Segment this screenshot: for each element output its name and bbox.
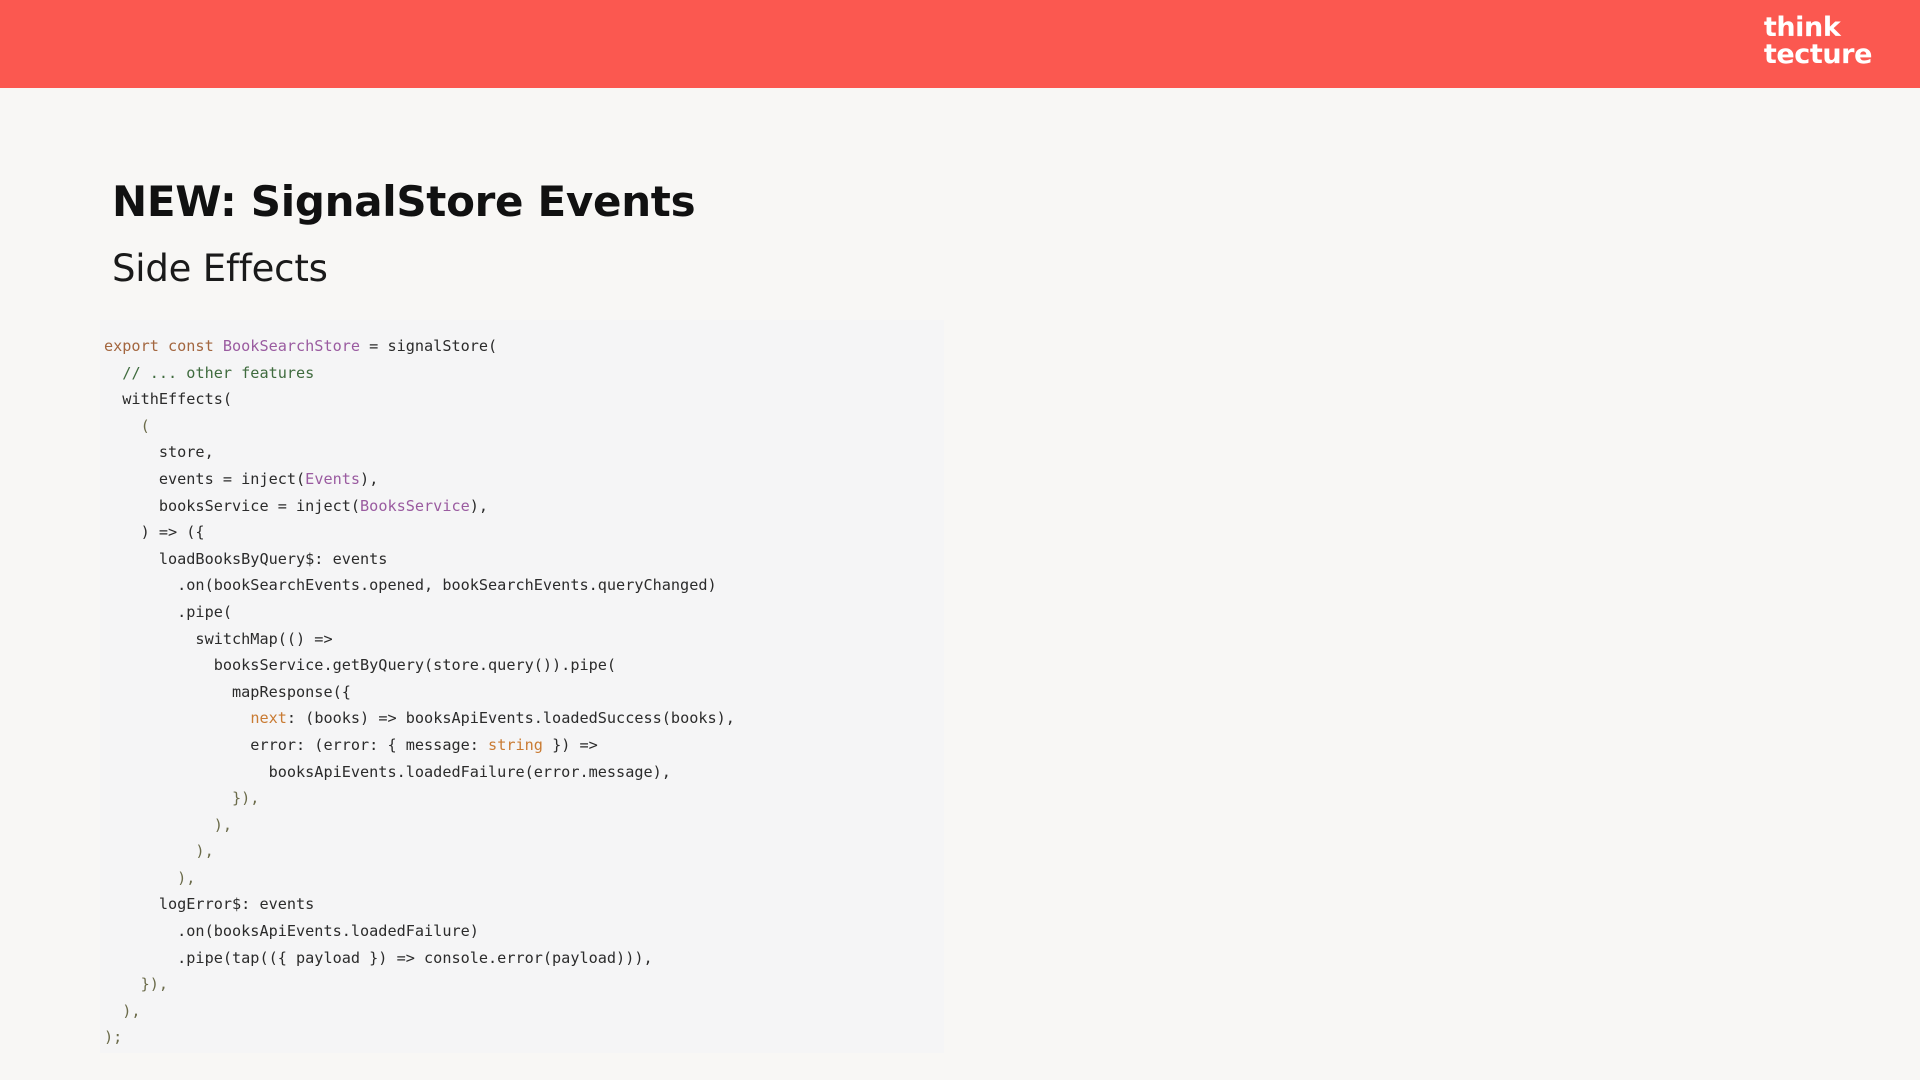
code-content: export const BookSearchStore = signalSto… [100, 333, 944, 1051]
code-token: ), [360, 470, 378, 488]
code-token: ), [104, 869, 195, 887]
code-token: withEffects( [104, 390, 232, 408]
code-token [104, 364, 122, 382]
page-subtitle: Side Effects [112, 247, 328, 291]
code-line: // ... other features [104, 360, 944, 387]
code-line: ), [104, 865, 944, 892]
code-token: booksApiEvents.loadedFailure(error.messa… [104, 763, 671, 781]
code-token: switchMap(() => [104, 630, 333, 648]
code-line: logError$: events [104, 891, 944, 918]
code-line: mapResponse({ [104, 679, 944, 706]
code-line: }), [104, 785, 944, 812]
code-line: withEffects( [104, 386, 944, 413]
code-line: booksService.getByQuery(store.query()).p… [104, 652, 944, 679]
code-token: .pipe(tap(({ payload }) => console.error… [104, 949, 653, 967]
code-token: loadBooksByQuery$: events [104, 550, 387, 568]
code-line: store, [104, 439, 944, 466]
code-token: ), [104, 1002, 141, 1020]
code-token: Events [305, 470, 360, 488]
code-line: ) => ({ [104, 519, 944, 546]
code-line: export const BookSearchStore = signalSto… [104, 333, 944, 360]
code-line: loadBooksByQuery$: events [104, 546, 944, 573]
code-line: error: (error: { message: string }) => [104, 732, 944, 759]
code-token: ); [104, 1028, 122, 1046]
brand-logo: think tecture [1764, 14, 1872, 68]
code-token: .pipe( [104, 603, 232, 621]
code-token: next [250, 709, 287, 727]
code-token: }) => [543, 736, 598, 754]
code-line: ), [104, 998, 944, 1025]
code-token: store, [104, 443, 214, 461]
code-token: ), [470, 497, 488, 515]
code-line: ), [104, 838, 944, 865]
code-token: booksService.getByQuery(store.query()).p… [104, 656, 616, 674]
code-line: next: (books) => booksApiEvents.loadedSu… [104, 705, 944, 732]
brand-logo-line-2: tecture [1764, 41, 1872, 68]
page-title: NEW: SignalStore Events [112, 178, 695, 226]
code-token: }), [104, 975, 168, 993]
code-token: }), [104, 789, 259, 807]
code-token: events = inject( [104, 470, 305, 488]
code-token: ), [104, 842, 214, 860]
code-token: export const [104, 337, 223, 355]
code-token: mapResponse({ [104, 683, 351, 701]
brand-logo-line-1: think [1764, 14, 1872, 41]
code-token: booksService = inject( [104, 497, 360, 515]
code-line: ); [104, 1024, 944, 1051]
code-line: .pipe(tap(({ payload }) => console.error… [104, 945, 944, 972]
code-token: ), [104, 816, 232, 834]
code-line: booksService = inject(BooksService), [104, 493, 944, 520]
code-token: logError$: events [104, 895, 314, 913]
code-token: .on(booksApiEvents.loadedFailure) [104, 922, 479, 940]
code-token: error: (error: { message: [104, 736, 488, 754]
code-line: events = inject(Events), [104, 466, 944, 493]
code-token: : (books) => booksApiEvents.loadedSucces… [287, 709, 735, 727]
code-line: ), [104, 812, 944, 839]
code-token: ) => ({ [104, 523, 205, 541]
code-token: BooksService [360, 497, 470, 515]
code-line: booksApiEvents.loadedFailure(error.messa… [104, 759, 944, 786]
code-token: string [488, 736, 543, 754]
code-line: switchMap(() => [104, 626, 944, 653]
header-bar: think tecture [0, 0, 1920, 88]
code-token: ( [104, 417, 150, 435]
code-line: .pipe( [104, 599, 944, 626]
code-line: .on(booksApiEvents.loadedFailure) [104, 918, 944, 945]
code-token [104, 709, 250, 727]
code-token: = signalStore( [360, 337, 497, 355]
code-token: BookSearchStore [223, 337, 360, 355]
code-block: export const BookSearchStore = signalSto… [100, 320, 944, 1053]
code-token: .on(bookSearchEvents.opened, bookSearchE… [104, 576, 717, 594]
code-line: ( [104, 413, 944, 440]
code-line: .on(bookSearchEvents.opened, bookSearchE… [104, 572, 944, 599]
code-line: }), [104, 971, 944, 998]
code-token: // ... other features [122, 364, 314, 382]
